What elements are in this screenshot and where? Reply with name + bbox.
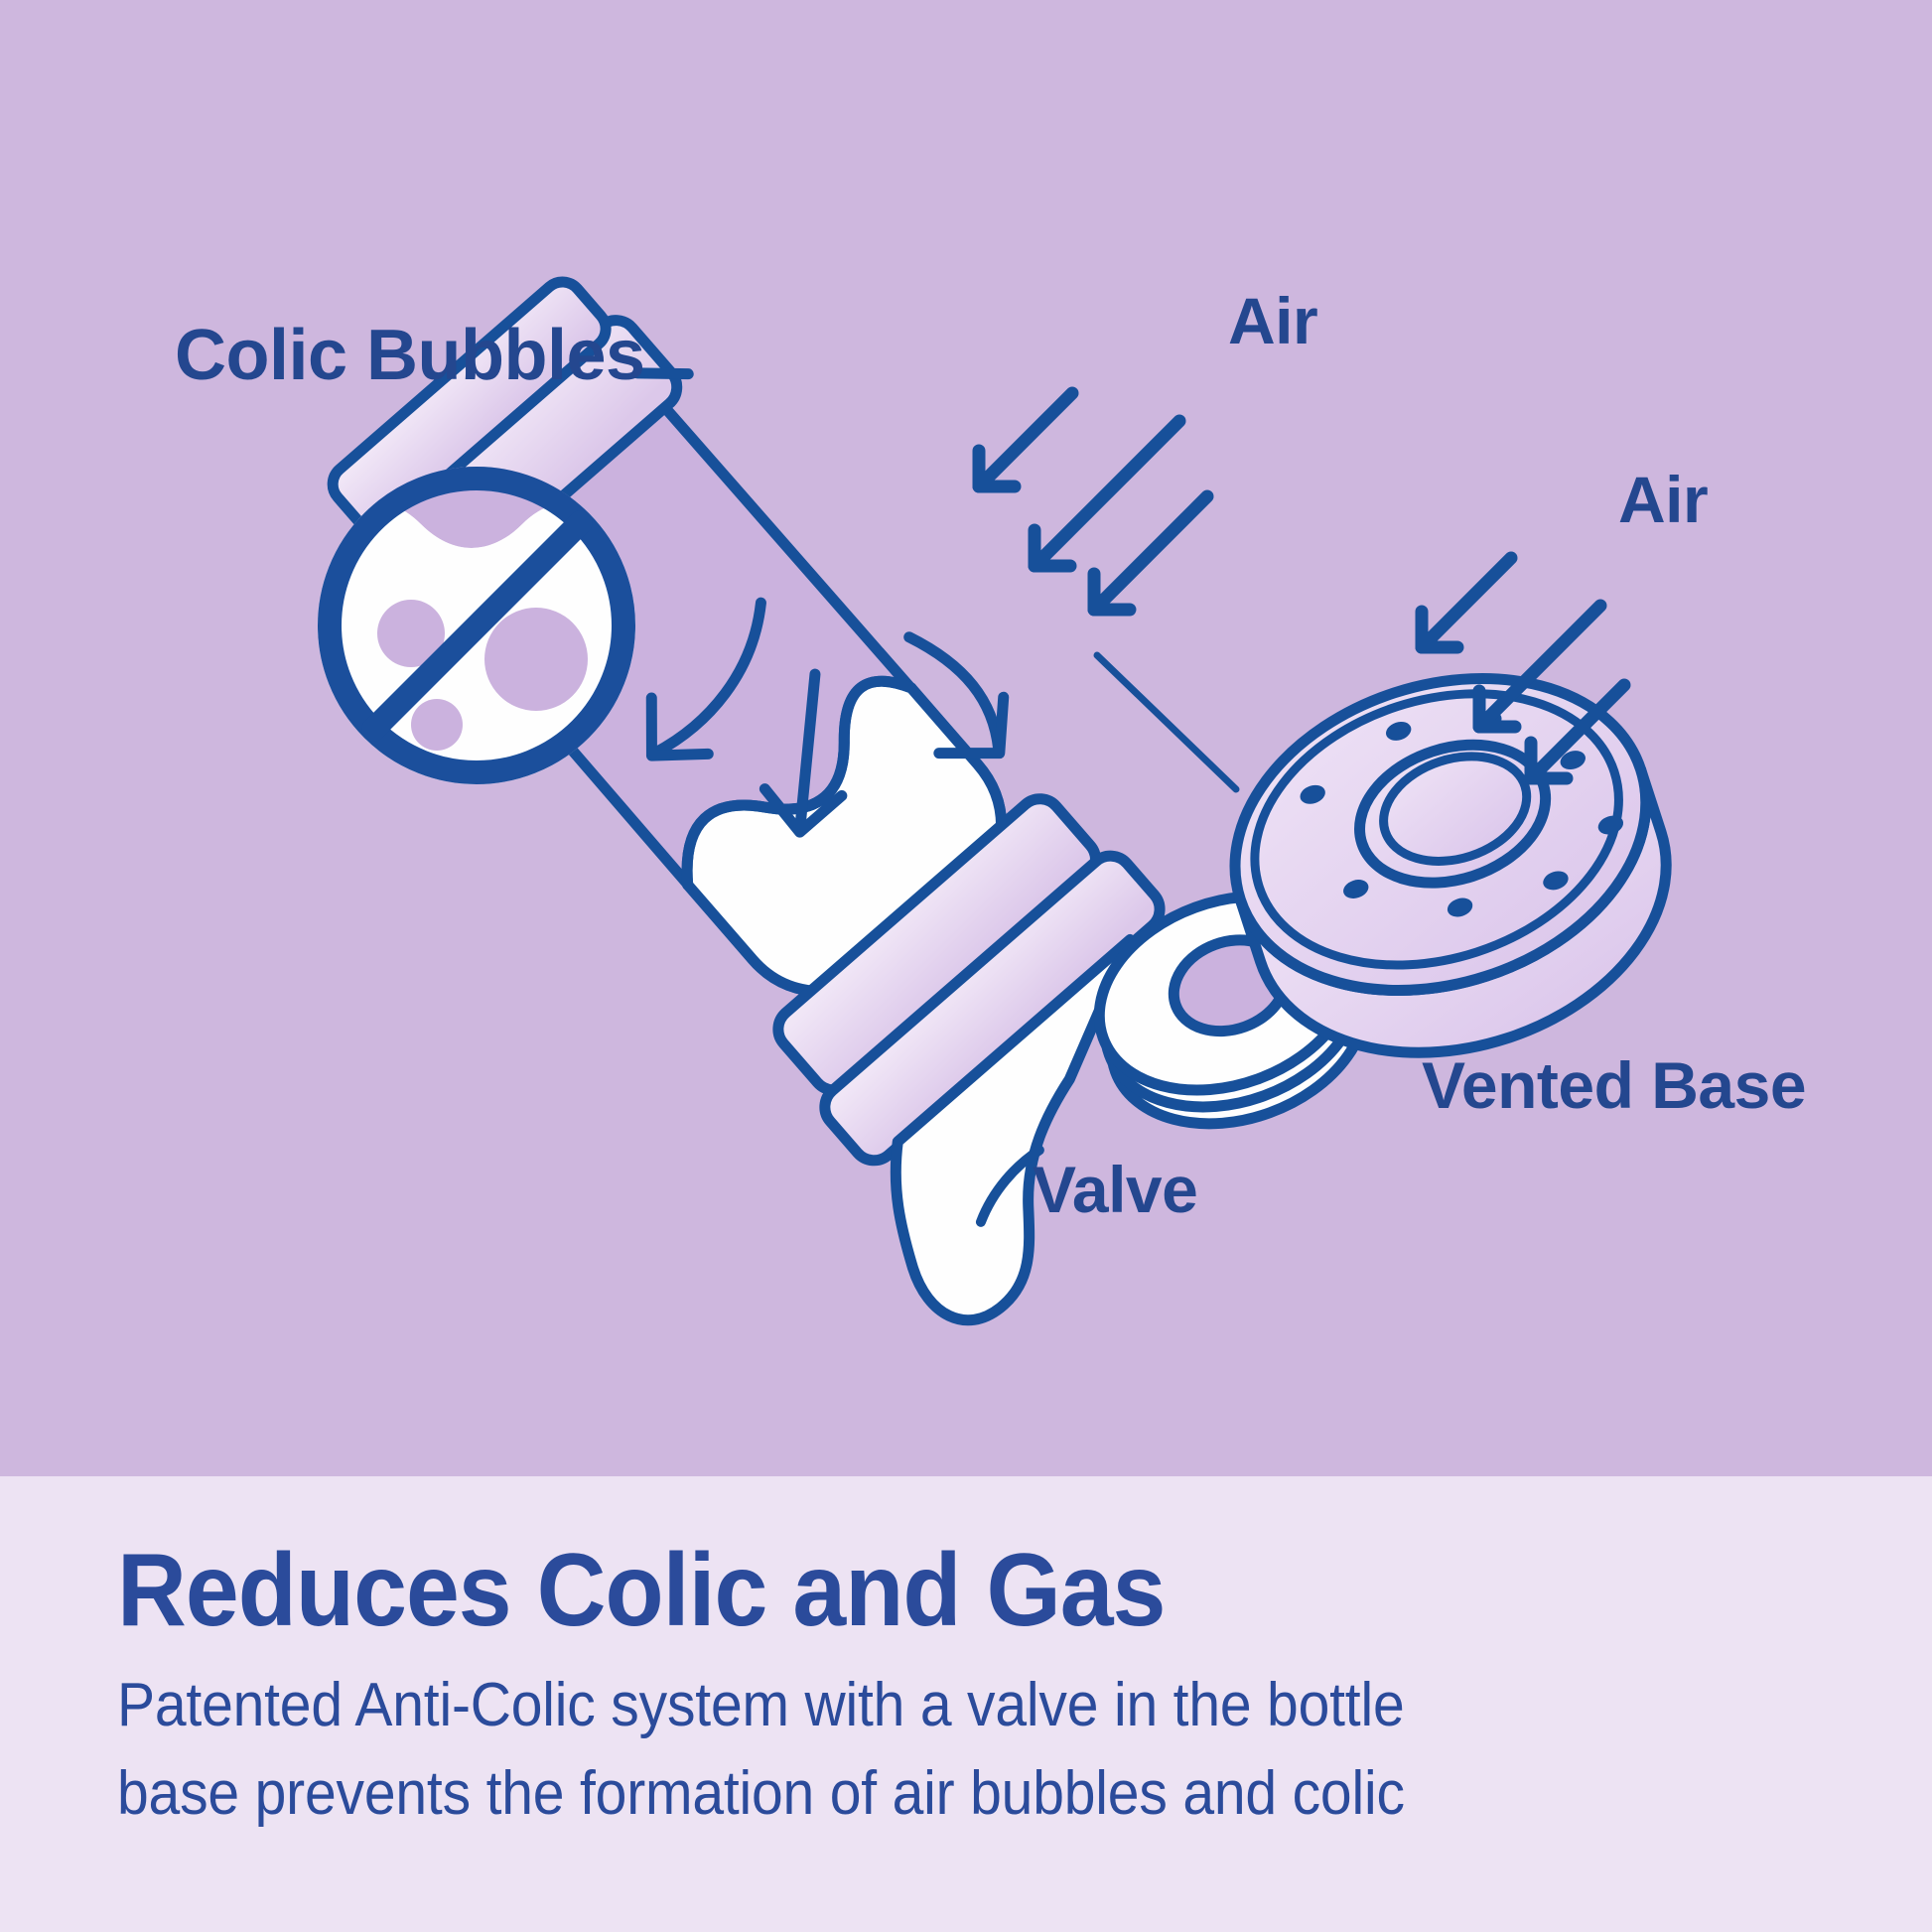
- air-arrows-top: [979, 393, 1207, 610]
- label-air-right: Air: [1618, 467, 1708, 532]
- infographic-poster: Colic Bubbles Air Air Vented Base Valve …: [0, 0, 1932, 1932]
- leader-line-valve: [1097, 655, 1236, 789]
- caption-heading: Reduces Colic and Gas: [117, 1538, 1704, 1643]
- label-vented-base: Vented Base: [1422, 1052, 1806, 1118]
- label-valve: Valve: [1033, 1157, 1197, 1222]
- caption-body: Patented Anti-Colic system with a valve …: [117, 1661, 1687, 1839]
- arrow-down-left-icon: [1094, 496, 1207, 610]
- label-air-top: Air: [1228, 288, 1317, 353]
- caption-body-line-1: Patented Anti-Colic system with a valve …: [117, 1661, 1687, 1749]
- illustration-panel: Colic Bubbles Air Air Vented Base Valve: [0, 0, 1932, 1476]
- colic-bubble-3: [411, 699, 463, 751]
- label-colic-bubbles: Colic Bubbles: [175, 320, 645, 391]
- anti-colic-diagram: [0, 0, 1932, 1476]
- caption-panel: Reduces Colic and Gas Patented Anti-Coli…: [0, 1476, 1932, 1932]
- colic-bubble-2: [484, 608, 588, 711]
- arrow-down-left-icon: [979, 393, 1072, 486]
- arrow-down-left-icon: [1422, 558, 1511, 647]
- caption-body-line-2: base prevents the formation of air bubbl…: [117, 1749, 1687, 1838]
